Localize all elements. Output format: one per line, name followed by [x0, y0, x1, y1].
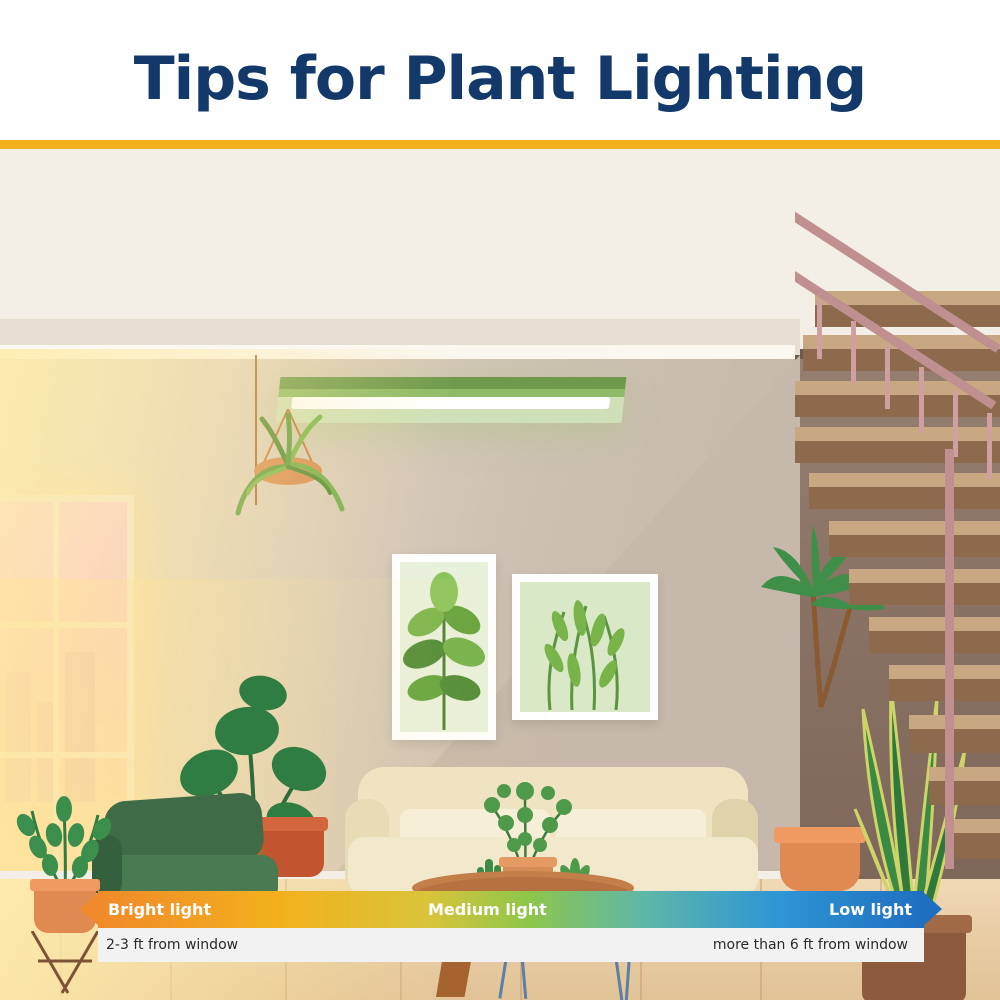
plant-stand [24, 931, 106, 1000]
stair-tread [809, 473, 1000, 487]
grow-light-side [278, 389, 625, 397]
stair-baluster [851, 321, 856, 383]
city-building [5, 672, 31, 802]
window-mullion [0, 622, 127, 628]
poster: Tips for Plant Lighting [0, 0, 1000, 1000]
stair-riser [795, 441, 1000, 463]
window-mullion [0, 752, 127, 758]
grow-light-tube [291, 397, 610, 409]
wall-art-right-canvas [520, 582, 650, 712]
stair-baluster [919, 367, 924, 433]
stair-baluster [817, 299, 822, 359]
stair-tread [909, 715, 1000, 729]
stair-riser [949, 833, 1000, 859]
wall-art-left-canvas [400, 562, 488, 732]
stair-riser [795, 395, 1000, 417]
header: Tips for Plant Lighting [0, 0, 1000, 140]
legend-arrow-left-icon [80, 891, 100, 927]
stair-baluster [953, 391, 958, 457]
stair-tread [869, 617, 1000, 631]
stair-handrail-upper [795, 209, 1000, 353]
legend-sub-low: more than 6 ft from window [713, 937, 908, 953]
stair-riser [809, 487, 1000, 509]
stair-riser [803, 349, 1000, 371]
stair-riser [929, 781, 1000, 805]
staircase [795, 149, 1000, 919]
grass-illustration [520, 582, 650, 712]
stair-riser [829, 535, 1000, 557]
legend-label-medium: Medium light [428, 900, 547, 919]
ceiling-trim [0, 345, 795, 359]
stair-tread [929, 767, 1000, 781]
legend-label-bright: Bright light [108, 900, 211, 919]
hanging-spider-plant [230, 409, 350, 539]
legend-label-low: Low light [829, 900, 912, 919]
light-level-legend: Bright light Medium light Low light [80, 891, 942, 928]
stair-baluster [885, 345, 890, 409]
stair-newel-post [945, 449, 954, 869]
stair-tread [949, 819, 1000, 833]
legend-arrow-right-icon [922, 891, 942, 927]
stair-tread [829, 521, 1000, 535]
stair-riser [909, 729, 1000, 753]
grow-light-housing [279, 377, 626, 389]
city-building [65, 652, 95, 802]
leaf-illustration [400, 562, 488, 732]
table-plant-pot-rim [499, 857, 557, 867]
header-divider [0, 140, 1000, 149]
page-title: Tips for Plant Lighting [0, 44, 1000, 114]
stair-tread [849, 569, 1000, 583]
zz-plant-pot-rim [30, 879, 100, 891]
stair-tread [795, 427, 1000, 441]
stair-riser [869, 631, 1000, 653]
stair-baluster [987, 413, 992, 479]
wall-art-left [392, 554, 496, 740]
legend-sub-bright: 2-3 ft from window [106, 937, 238, 953]
room-illustration [0, 149, 1000, 1000]
wall-art-right [512, 574, 658, 720]
stair-riser [849, 583, 1000, 605]
